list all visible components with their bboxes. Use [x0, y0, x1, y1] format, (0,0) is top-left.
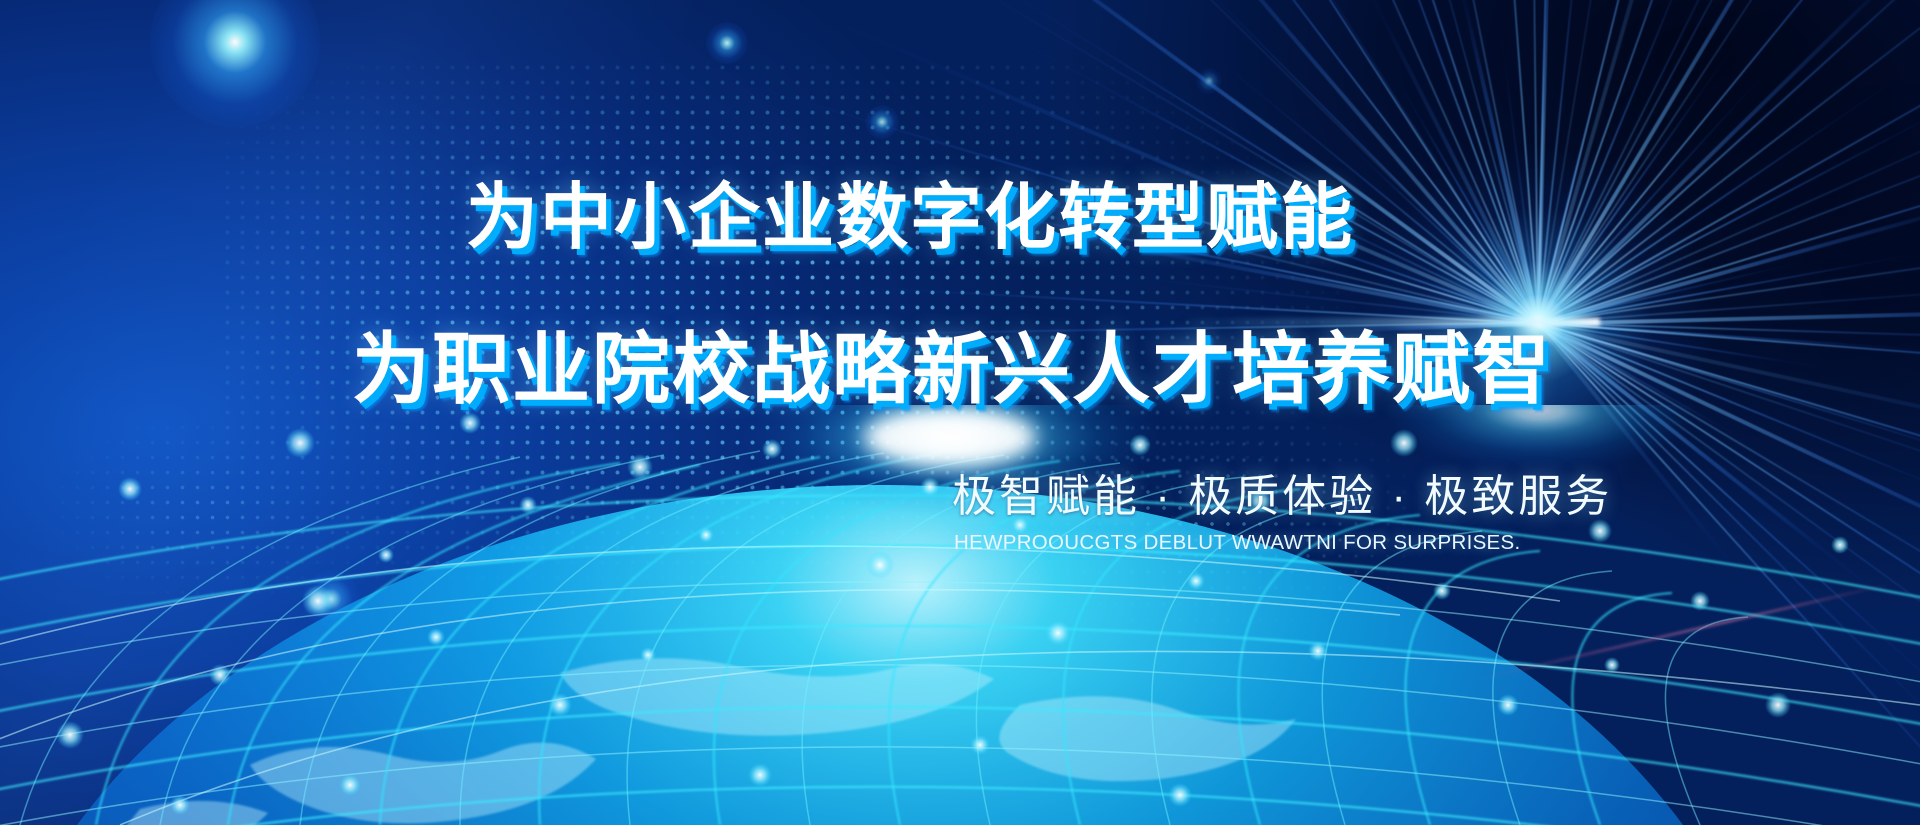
headline-primary: 为中小企业数字化转型赋能 [466, 182, 1354, 254]
hero-banner: 为中小企业数字化转型赋能 为职业院校战略新兴人才培养赋智 极智赋能 · 极质体验… [0, 0, 1920, 825]
banner-content: 为中小企业数字化转型赋能 为职业院校战略新兴人才培养赋智 极智赋能 · 极质体验… [0, 0, 1920, 825]
headline-secondary: 为职业院校战略新兴人才培养赋智 [352, 330, 1552, 408]
subtitle-english: HEWPROOUCGTS DEBLUT WWAWTNI FOR SURPRISE… [954, 531, 1521, 555]
subtitle-chinese: 极智赋能 · 极质体验 · 极致服务 [952, 460, 1612, 524]
